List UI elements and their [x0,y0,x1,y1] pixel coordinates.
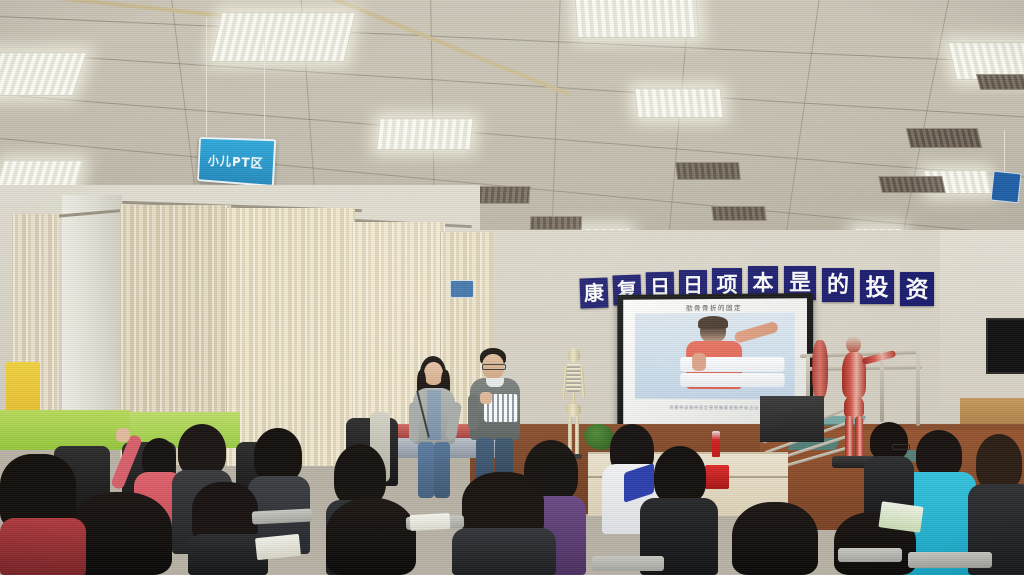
presenter-jeans [434,442,450,498]
tablet-arm-desk [592,556,664,571]
muscle-model-leg [845,416,853,460]
audience-hair [254,428,302,482]
banner-placard: 资 [900,272,934,306]
presenter-hand [480,392,492,404]
banner-char: 的 [827,274,849,296]
audience-member-front [188,482,268,575]
slide-image [635,312,795,399]
presenter-glasses [482,364,506,370]
mini-sign-wire [1004,130,1005,172]
right-hanging-sign [991,171,1022,204]
slide-figure-hand [692,353,706,371]
skeleton-pelvis [566,404,581,417]
audience-hair [870,422,908,460]
audience-hair [192,482,258,542]
slide-title: 肋骨骨折的固定 [623,301,807,312]
ceiling-light [634,88,723,118]
banner-placard: 的 [822,268,854,302]
ceiling-vent [530,216,582,230]
audience-torso [452,528,556,575]
muscle-model-hips [844,396,864,418]
ceiling-vent [711,206,767,221]
tablet-arm-desk [908,552,992,568]
ceiling-vent [976,74,1024,90]
ceiling-vent [675,162,741,180]
ceiling-light [0,52,87,96]
ceiling-vent [906,128,983,148]
audience-member-front [452,472,556,575]
pediatric-pt-area-sign: 小儿PT区 [197,137,276,187]
audience-hair [178,424,226,476]
wall-mounted-sign [450,280,474,298]
audience-hair [976,434,1022,490]
parallel-bar-post [880,352,884,422]
presenter-arm [468,394,479,430]
banner-char: 昰 [789,272,811,294]
sign-wire-left [206,18,207,138]
green-wall-pad [0,410,130,450]
audience-hair [916,430,962,478]
banner-char: 资 [906,278,929,301]
banner-char: 康 [584,283,605,304]
slide-figure-hair [698,316,728,329]
audience-red-coat [0,518,86,575]
wall-tv [986,318,1024,374]
classroom-photo: 小儿PT区 康 复 日 日 项 本 昰 的 投 资 馨 情 [0,0,1024,575]
presenter-inner-top [427,390,441,440]
muscle-model-head [846,336,861,353]
presenter-jeans [418,442,434,498]
muscle-model-secondary [812,340,828,400]
banner-char: 本 [753,272,774,293]
ceiling-light [210,12,356,62]
ceiling-light [574,0,699,38]
banner-placard: 康 [579,278,608,309]
audience-member-front [0,454,86,575]
pt-sign-label: 小儿PT区 [208,151,265,171]
ceiling-light [376,118,473,150]
sign-wire-right [264,30,265,140]
audience-hair [732,502,818,575]
audience-member-front [320,498,424,575]
audience-member-front [728,502,824,575]
structural-column [62,195,122,445]
handout-booklet [255,534,301,560]
audience-hair [334,444,386,506]
banner-char: 投 [866,276,889,299]
ceiling-vent [878,176,946,193]
audience-hair [654,446,706,504]
handout-booklet [410,513,451,531]
audience-hair [326,498,416,575]
tablet-arm-desk [838,548,902,562]
banner-char: 日 [683,275,703,295]
presenter-arm [409,402,419,442]
audience-glasses [892,444,910,450]
skeleton-ribcage [566,364,581,392]
banner-char: 项 [717,274,738,295]
audience-hair [0,454,76,528]
dark-equipment-cabinet [760,396,824,442]
parallel-bar-post [916,348,920,426]
presenter-collar [486,378,504,387]
banner-placard: 投 [860,270,894,304]
slide-chest-binder-2 [680,373,784,387]
audience-hand [116,428,130,442]
slide-figure-arm [733,321,779,344]
skeleton-skull [568,348,580,362]
